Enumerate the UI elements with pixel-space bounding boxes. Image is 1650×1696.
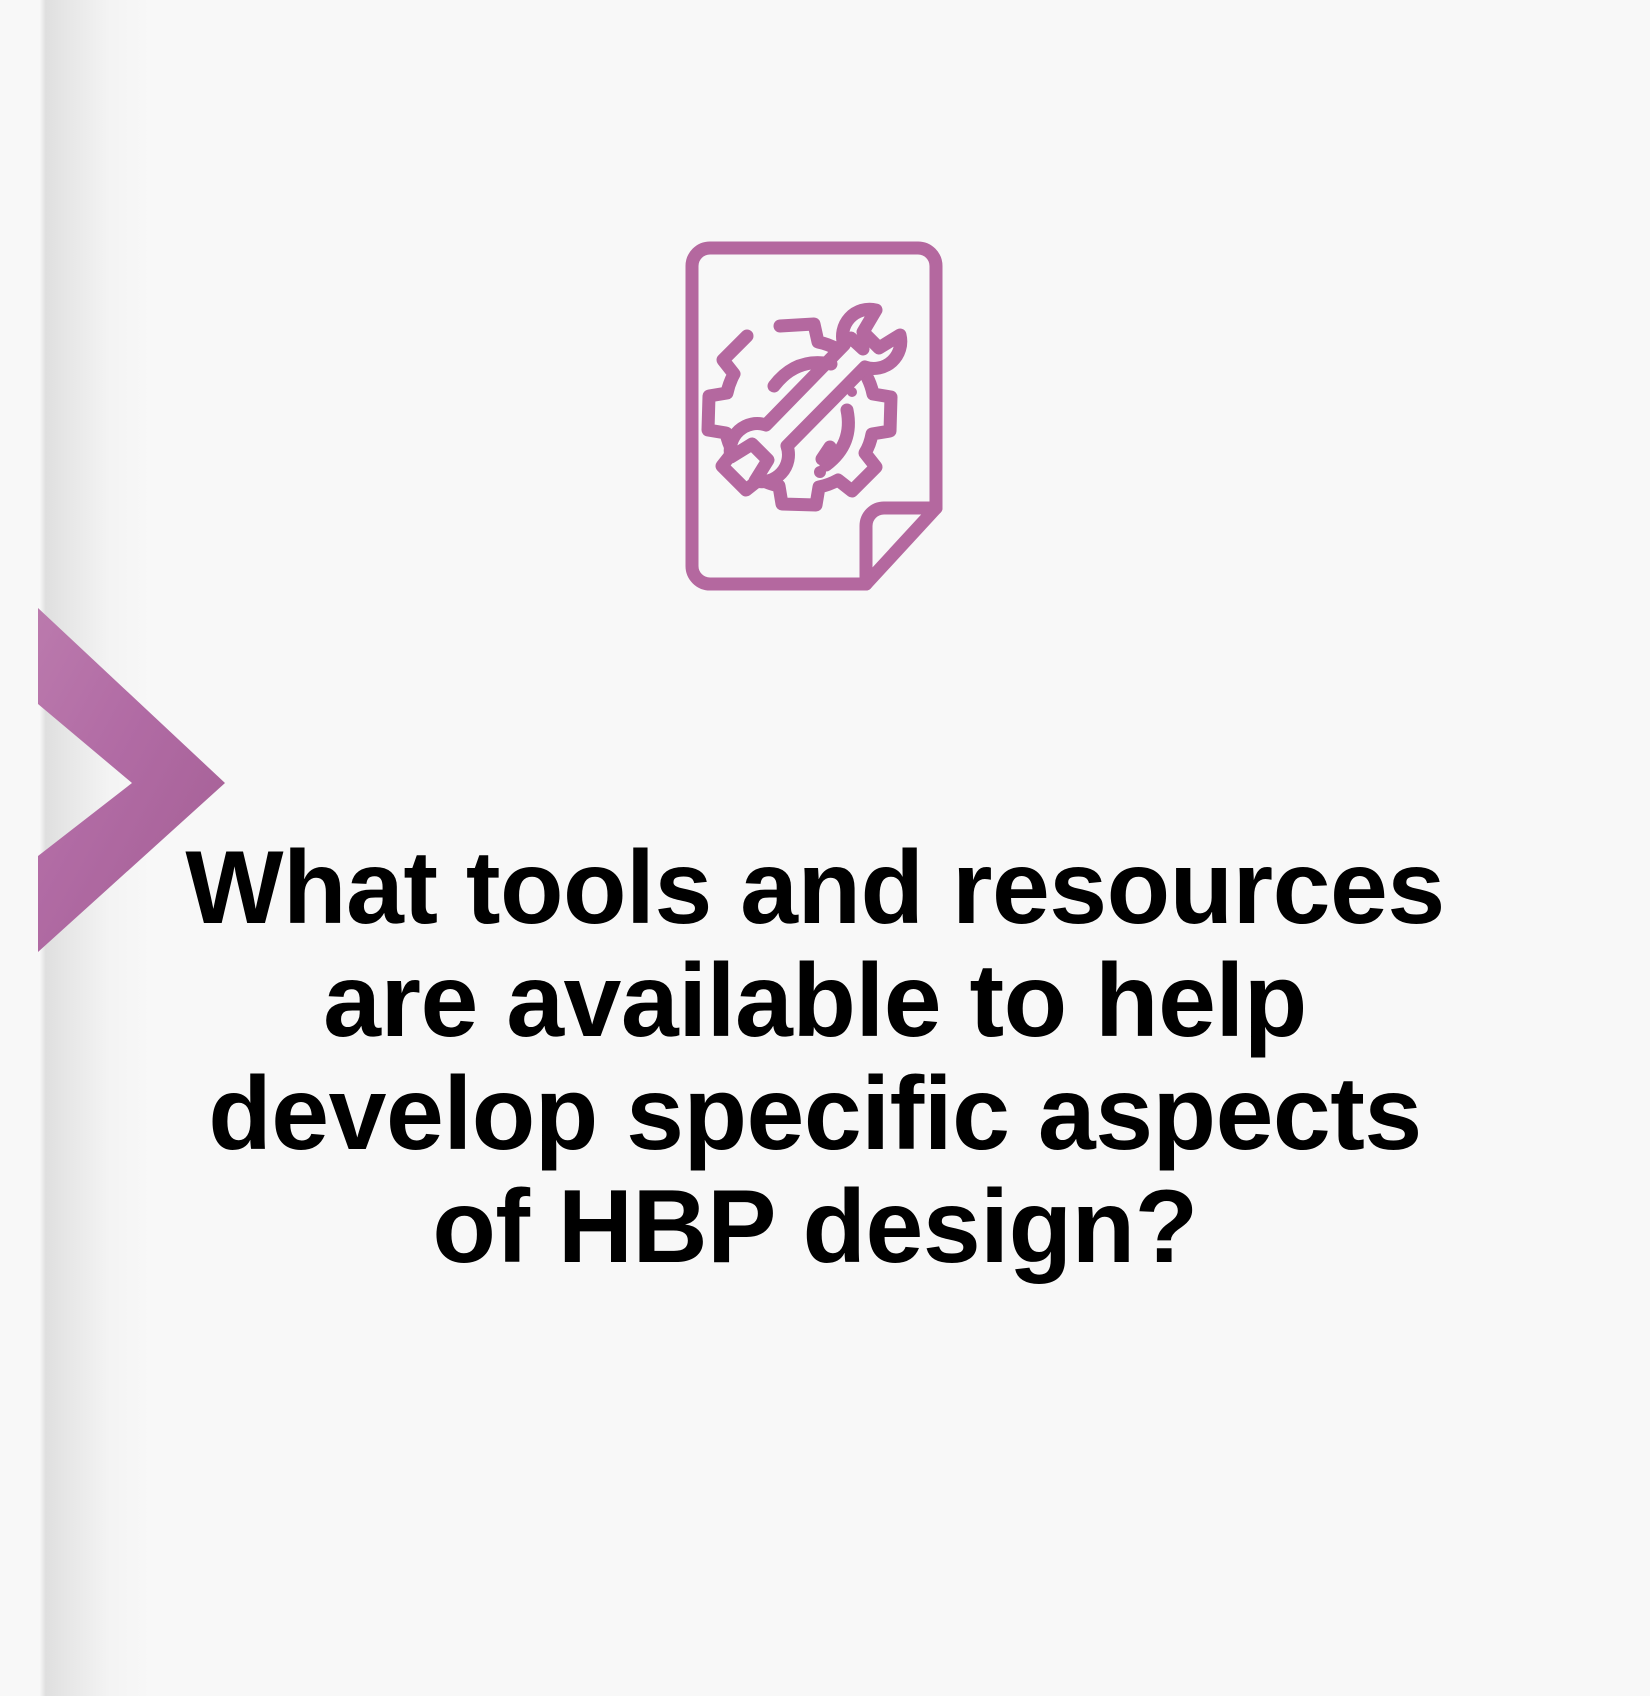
page-title: What tools and resources are available t… (180, 832, 1450, 1284)
gear-shape (708, 324, 891, 505)
slide-canvas: What tools and resources are available t… (0, 0, 1650, 1696)
gear-inner-tick (822, 447, 830, 459)
gear-inner-dot-bottom (814, 466, 826, 478)
document-tools-icon (670, 240, 960, 612)
